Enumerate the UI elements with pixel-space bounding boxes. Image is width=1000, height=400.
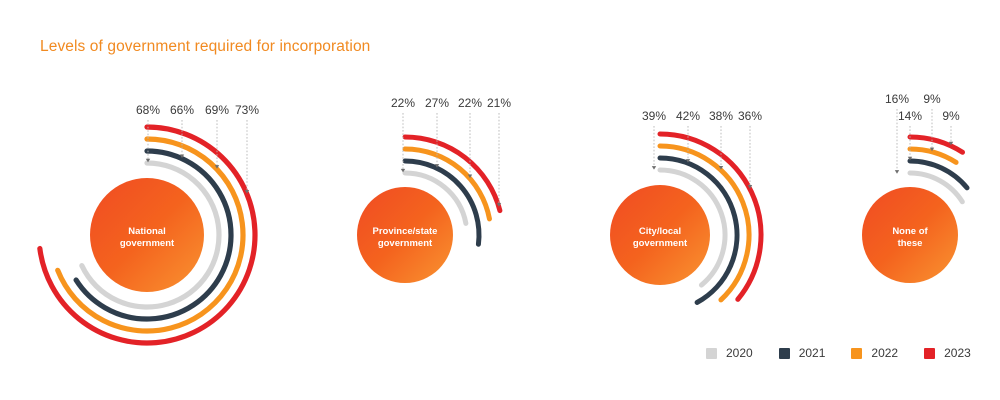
label-leader-arrow-icon: [652, 166, 656, 170]
value-label-2022: 22%: [458, 96, 482, 110]
value-label-2022: 9%: [923, 92, 941, 106]
category-label-line: City/local: [639, 226, 681, 237]
category-label-line: None of: [892, 226, 928, 237]
value-label-2020: 68%: [136, 103, 160, 117]
value-label-2023: 21%: [487, 96, 511, 110]
value-label-2022: 38%: [709, 109, 733, 123]
category-label-line: government: [633, 238, 688, 249]
label-leader-arrow-icon: [895, 170, 899, 174]
radial-group-3: City/localgovernment39%42%38%36%: [610, 109, 762, 302]
legend-label: 2023: [944, 346, 971, 360]
legend-item-2020: 2020: [706, 346, 753, 360]
radial-group-1: Nationalgovernment68%66%69%73%: [40, 103, 259, 343]
value-label-2020: 16%: [885, 92, 909, 106]
value-label-2021: 42%: [676, 109, 700, 123]
chart-container: Levels of government required for incorp…: [0, 0, 1000, 400]
category-label-line: government: [120, 238, 175, 249]
radial-group-2: Province/stategovernment22%27%22%21%: [357, 96, 511, 283]
radial-group-4: None ofthese16%14%9%9%: [862, 92, 967, 283]
category-label: Province/stategovernment: [373, 226, 438, 249]
value-label-2021: 27%: [425, 96, 449, 110]
value-label-2020: 39%: [642, 109, 666, 123]
legend-label: 2022: [871, 346, 898, 360]
value-label-2023: 36%: [738, 109, 762, 123]
category-label-line: these: [898, 238, 923, 249]
legend-swatch-icon: [851, 348, 862, 359]
value-label-2021: 66%: [170, 103, 194, 117]
chart-legend: 2020202120222023: [706, 346, 971, 360]
category-label: City/localgovernment: [633, 226, 688, 249]
legend-swatch-icon: [924, 348, 935, 359]
radial-chart-svg: Nationalgovernment68%66%69%73%Province/s…: [0, 0, 1000, 400]
legend-item-2021: 2021: [779, 346, 826, 360]
legend-swatch-icon: [706, 348, 717, 359]
value-label-2022: 69%: [205, 103, 229, 117]
value-label-2023: 73%: [235, 103, 259, 117]
value-label-2020: 22%: [391, 96, 415, 110]
legend-label: 2021: [799, 346, 826, 360]
category-label-line: government: [378, 238, 433, 249]
legend-item-2023: 2023: [924, 346, 971, 360]
category-label-line: Province/state: [373, 226, 438, 237]
legend-item-2022: 2022: [851, 346, 898, 360]
value-label-2023: 9%: [942, 109, 960, 123]
value-label-2021: 14%: [898, 109, 922, 123]
legend-label: 2020: [726, 346, 753, 360]
category-label-line: National: [128, 226, 165, 237]
legend-swatch-icon: [779, 348, 790, 359]
